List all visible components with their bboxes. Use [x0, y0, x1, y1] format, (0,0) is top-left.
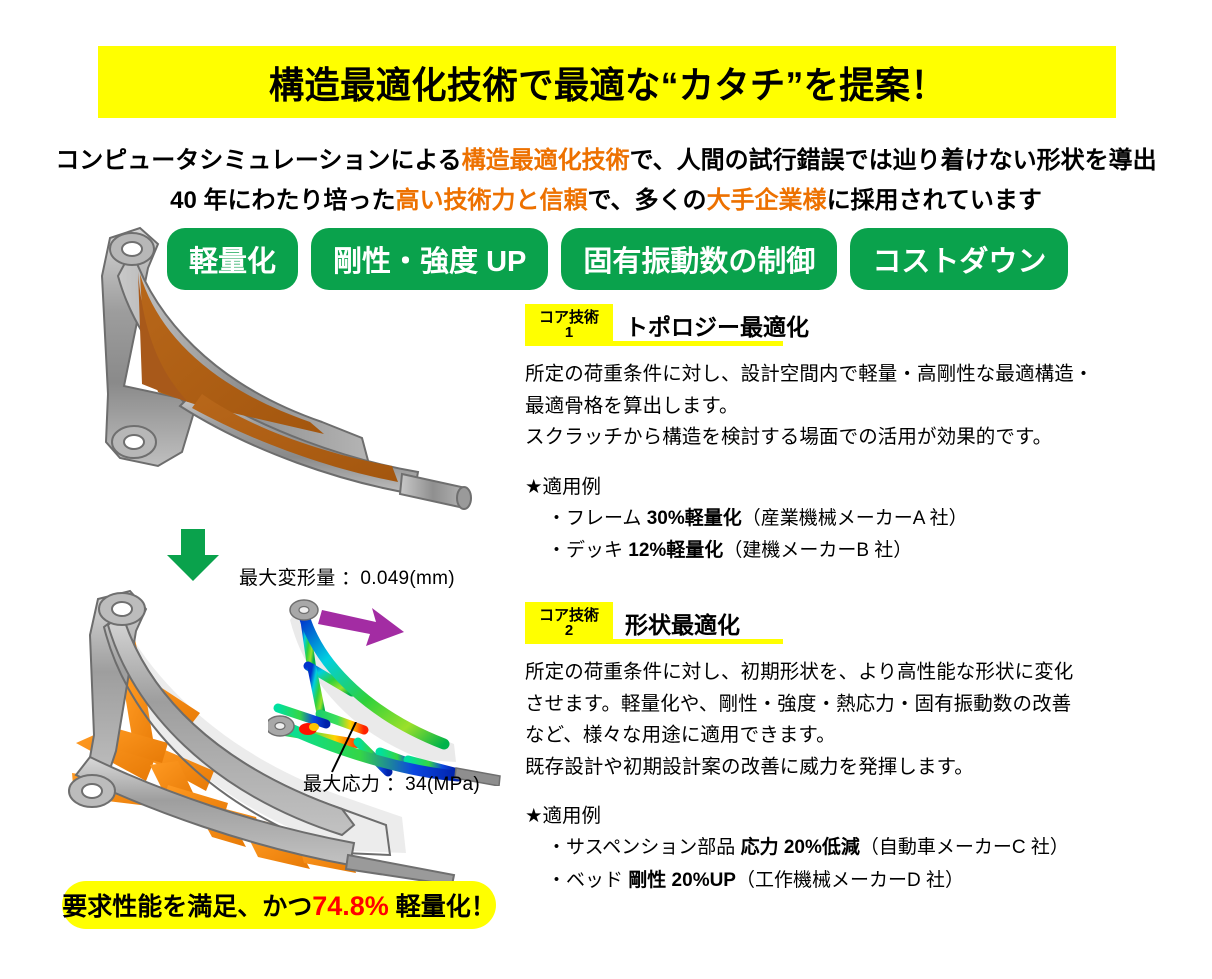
load-direction-arrow-icon — [318, 608, 404, 646]
stress-leader-line — [330, 722, 360, 774]
subtitle-l2-highlight-1: 高い技術力と信頼 — [396, 187, 588, 214]
subtitle-l1-highlight: 構造最適化技術 — [462, 147, 630, 174]
core-technology-column: コア技術 1 トポロジー最適化 所定の荷重条件に対し、設計空間内で軽量・高剛性な… — [525, 300, 1145, 920]
subtitle-l2-part1: 40 年にわたり培った — [170, 187, 395, 214]
result-banner-text: 要求性能を満足、かつ74.8% 軽量化！ — [62, 887, 496, 923]
example-metric: 応力 20%低減 — [741, 837, 860, 858]
list-item: ・フレーム 30%軽量化（産業機械メーカーA 社） — [525, 503, 1145, 536]
subtitle-line-1: コンピュータシミュレーションによる構造最適化技術で、人間の試行錯誤では辿り着けな… — [0, 140, 1212, 175]
result-percent: 74.8% — [312, 891, 389, 921]
subtitle-l2-part3: に採用されています — [827, 187, 1042, 214]
subtitle-l1-part1: コンピュータシミュレーションによる — [55, 147, 461, 174]
core-technology-section-2: コア技術 2 形状最適化 所定の荷重条件に対し、初期形状を、より高性能な形状に変… — [525, 598, 1145, 898]
subtitle-l2-part2: で、多くの — [588, 187, 707, 214]
result-suffix: 軽量化！ — [396, 893, 496, 921]
list-item: ・サスペンション部品 応力 20%低減（自動車メーカーC 社） — [525, 832, 1145, 865]
page-title: 構造最適化技術で最適な“カタチ”を提案！ — [268, 55, 945, 109]
benefit-pill-frequency[interactable]: 固有振動数の制御 — [561, 228, 837, 290]
list-item: ・ベッド 剛性 20%UP（工作機械メーカーD 社） — [525, 865, 1145, 898]
section-1-examples-list: ・フレーム 30%軽量化（産業機械メーカーA 社） ・デッキ 12%軽量化（建機… — [525, 503, 1145, 568]
list-item: ・デッキ 12%軽量化（建機メーカーB 社） — [525, 535, 1145, 568]
section-1-examples-heading: ★適用例 — [525, 470, 1145, 499]
section-1-badge: コア技術 1 — [525, 304, 613, 346]
subtitle-line-2: 40 年にわたり培った高い技術力と信頼で、多くの大手企業様に採用されています — [0, 180, 1212, 215]
body-line: させます。軽量化や、剛性・強度・熱応力・固有振動数の改善 — [525, 689, 1145, 721]
title-banner: 構造最適化技術で最適な“カタチ”を提案！ — [98, 46, 1116, 118]
section-2-body: 所定の荷重条件に対し、初期形状を、より高性能な形状に変化 させます。軽量化や、剛… — [525, 657, 1145, 783]
example-metric: 30%軽量化 — [647, 508, 742, 529]
example-prefix: ・フレーム — [547, 508, 647, 529]
badge-title: コア技術 — [539, 608, 599, 623]
max-stress-label: 最大応力 ：34(MPa) — [303, 769, 480, 796]
design-space-bracket-image — [62, 216, 482, 516]
subtitle-l1-part2: で、人間の試行錯誤では辿り着けない形状を導出 — [630, 147, 1157, 174]
badge-title: コア技術 — [539, 310, 599, 325]
section-1-heading: トポロジー最適化 — [625, 308, 809, 346]
body-line: 既存設計や初期設計案の改善に威力を発揮します。 — [525, 752, 1145, 784]
section-2-header: コア技術 2 形状最適化 — [525, 598, 1145, 644]
example-suffix: （建機メーカーB 社） — [723, 540, 912, 561]
section-2-heading: 形状最適化 — [625, 606, 740, 644]
example-metric: 12%軽量化 — [628, 540, 723, 561]
section-1-header: コア技術 1 トポロジー最適化 — [525, 300, 1145, 346]
body-line: 所定の荷重条件に対し、設計空間内で軽量・高剛性な最適構造・ — [525, 359, 1145, 391]
core-technology-section-1: コア技術 1 トポロジー最適化 所定の荷重条件に対し、設計空間内で軽量・高剛性な… — [525, 300, 1145, 568]
badge-number: 1 — [565, 325, 573, 340]
result-banner: 要求性能を満足、かつ74.8% 軽量化！ — [62, 881, 496, 929]
example-prefix: ・サスペンション部品 — [547, 837, 741, 858]
example-suffix: （工作機械メーカーD 社） — [736, 870, 964, 891]
badge-number: 2 — [565, 623, 573, 638]
example-suffix: （産業機械メーカーA 社） — [742, 508, 968, 529]
example-metric: 剛性 20%UP — [628, 870, 736, 891]
section-1-body: 所定の荷重条件に対し、設計空間内で軽量・高剛性な最適構造・ 最適骨格を算出します… — [525, 359, 1145, 454]
result-prefix: 要求性能を満足、かつ — [62, 893, 312, 921]
example-prefix: ・ベッド — [547, 870, 628, 891]
fea-stress-contour-image — [268, 596, 518, 786]
benefit-pill-label: コストダウン — [872, 238, 1046, 280]
example-suffix: （自動車メーカーC 社） — [860, 837, 1069, 858]
body-line: など、様々な用途に適用できます。 — [525, 720, 1145, 752]
section-2-badge: コア技術 2 — [525, 602, 613, 644]
section-2-examples-list: ・サスペンション部品 応力 20%低減（自動車メーカーC 社） ・ベッド 剛性 … — [525, 832, 1145, 897]
benefit-pill-label: 固有振動数の制御 — [583, 238, 815, 280]
body-line: 最適骨格を算出します。 — [525, 391, 1145, 423]
body-line: 所定の荷重条件に対し、初期形状を、より高性能な形状に変化 — [525, 657, 1145, 689]
body-line: スクラッチから構造を検討する場面での活用が効果的です。 — [525, 422, 1145, 454]
subtitle-l2-highlight-2: 大手企業様 — [707, 187, 827, 214]
benefit-pill-cost[interactable]: コストダウン — [850, 228, 1068, 290]
example-prefix: ・デッキ — [547, 540, 628, 561]
section-2-examples-heading: ★適用例 — [525, 799, 1145, 828]
down-arrow-icon — [163, 527, 223, 583]
